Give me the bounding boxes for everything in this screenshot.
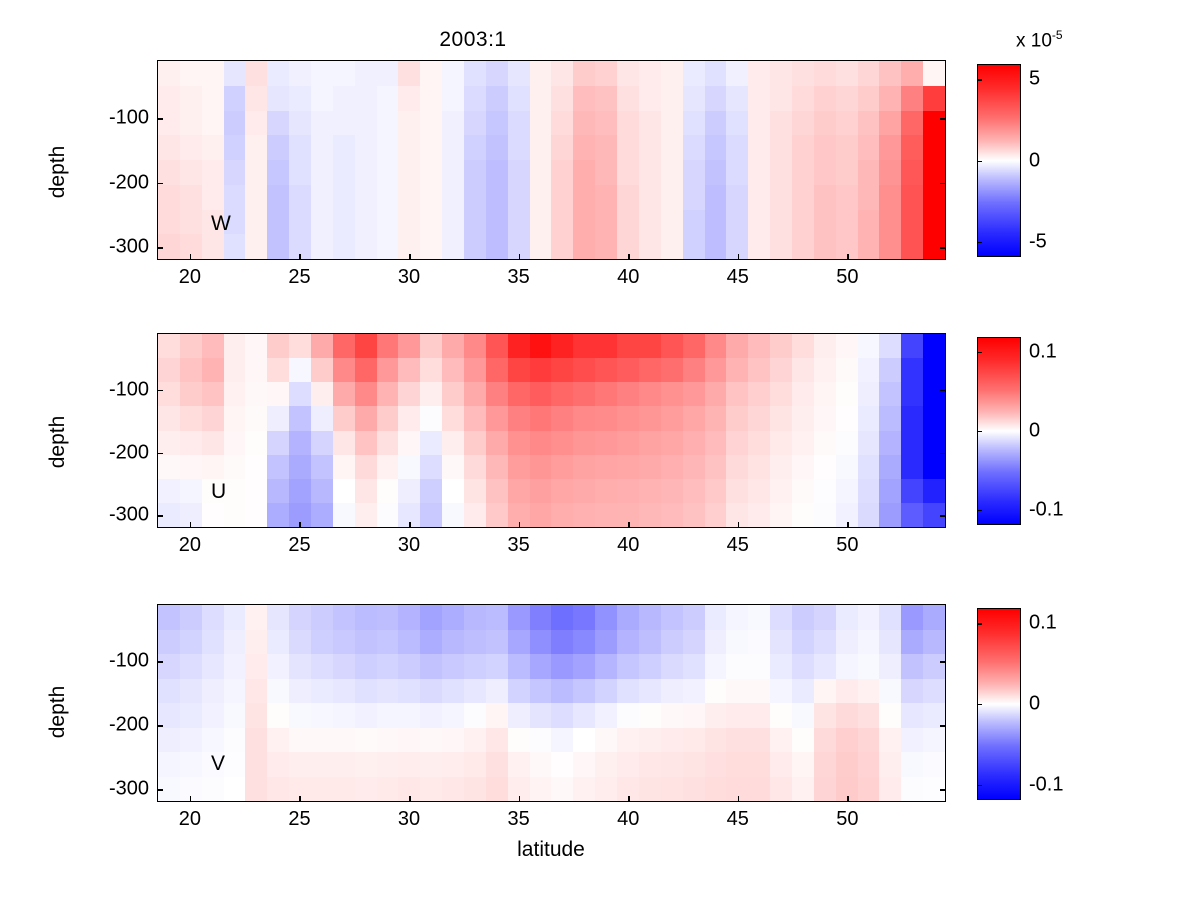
heatmap-cell: [486, 703, 508, 728]
heatmap-cell: [770, 703, 792, 728]
heatmap-cell: [814, 334, 836, 358]
colorbar-tick-mark: [977, 161, 982, 162]
heatmap-cell: [836, 111, 858, 136]
heatmap-cell: [224, 358, 246, 382]
heatmap-cell: [180, 334, 202, 358]
y-axis-title-u: depth: [46, 382, 70, 502]
heatmap-cell: [508, 358, 530, 382]
heatmap-cell: [901, 185, 923, 210]
heatmap-cell: [355, 728, 377, 753]
heatmap-cell: [267, 160, 289, 185]
heatmap-cell: [770, 111, 792, 136]
heatmap-cell: [486, 382, 508, 406]
y-tick-label: -200: [65, 714, 149, 737]
heatmap-cell: [377, 406, 399, 430]
heatmap-cell: [464, 455, 486, 479]
heatmap-cell: [923, 406, 945, 430]
heatmap-cell: [770, 503, 792, 527]
heatmap-cell: [464, 654, 486, 679]
heatmap-cell: [377, 382, 399, 406]
heatmap-grid-w: [158, 61, 945, 259]
heatmap-cell: [464, 61, 486, 86]
heatmap-cell: [420, 679, 442, 704]
heatmap-cell: [792, 455, 814, 479]
heatmap-cell: [726, 86, 748, 111]
heatmap-cell: [551, 185, 573, 210]
heatmap-cell: [858, 654, 880, 679]
heatmap-cell: [726, 703, 748, 728]
heatmap-cell: [158, 382, 180, 406]
heatmap-cell: [530, 185, 552, 210]
heatmap-cell: [311, 358, 333, 382]
heatmap-cell: [355, 605, 377, 630]
heatmap-cell: [289, 160, 311, 185]
heatmap-cell: [333, 406, 355, 430]
heatmap-cell: [355, 406, 377, 430]
heatmap-cell: [464, 406, 486, 430]
heatmap-cell: [770, 234, 792, 259]
heatmap-cell: [333, 185, 355, 210]
x-tick-mark: [847, 796, 849, 802]
heatmap-cell: [792, 703, 814, 728]
heatmap-cell: [551, 728, 573, 753]
heatmap-cell: [398, 479, 420, 503]
colorbar-tick-label: 0: [1029, 420, 1040, 443]
heatmap-cell: [573, 382, 595, 406]
heatmap-cell: [858, 334, 880, 358]
y-tick-mark-right: [940, 390, 946, 392]
heatmap-cell: [836, 431, 858, 455]
heatmap-cell: [661, 752, 683, 777]
x-tick-label: 30: [398, 534, 420, 557]
heatmap-cell: [792, 752, 814, 777]
heatmap-cell: [639, 728, 661, 753]
heatmap-cell: [158, 630, 180, 655]
heatmap-cell: [377, 334, 399, 358]
heatmap-cell: [770, 479, 792, 503]
figure-canvas: 2003:1 W 20253035404550-100-200-300 dept…: [0, 0, 1200, 900]
x-tick-mark: [519, 522, 521, 528]
heatmap-cell: [486, 777, 508, 802]
heatmap-cell: [508, 86, 530, 111]
heatmap-cell: [377, 630, 399, 655]
heatmap-cell: [289, 334, 311, 358]
heatmap-cell: [639, 86, 661, 111]
heatmap-cell: [420, 728, 442, 753]
heatmap-cell: [748, 334, 770, 358]
heatmap-cell: [814, 382, 836, 406]
heatmap-cell: [530, 654, 552, 679]
heatmap-cell: [486, 479, 508, 503]
heatmap-cell: [858, 111, 880, 136]
heatmap-cell: [923, 334, 945, 358]
heatmap-cell: [311, 334, 333, 358]
heatmap-cell: [683, 431, 705, 455]
heatmap-cell: [726, 654, 748, 679]
colorbar-v[interactable]: [977, 608, 1021, 800]
heatmap-cell: [420, 654, 442, 679]
heatmap-cell: [464, 777, 486, 802]
heatmap-cell: [836, 728, 858, 753]
heatmap-cell: [224, 777, 246, 802]
heatmap-cell: [442, 605, 464, 630]
heatmap-cell: [224, 605, 246, 630]
heatmap-cell: [333, 234, 355, 259]
heatmap-cell: [530, 455, 552, 479]
x-tick-label: 20: [179, 534, 201, 557]
heatmap-cell: [639, 777, 661, 802]
heatmap-cell: [508, 605, 530, 630]
heatmap-cell: [245, 61, 267, 86]
heatmap-cell: [595, 358, 617, 382]
heatmap-cell: [508, 431, 530, 455]
heatmap-cell: [464, 86, 486, 111]
heatmap-cell: [923, 210, 945, 235]
heatmap-cell: [705, 61, 727, 86]
heatmap-cell: [333, 61, 355, 86]
heatmap-cell: [289, 135, 311, 160]
heatmap-cell: [858, 234, 880, 259]
heatmap-cell: [333, 752, 355, 777]
heatmap-cell: [530, 160, 552, 185]
heatmap-cell: [377, 61, 399, 86]
heatmap-cell: [224, 61, 246, 86]
heatmap-cell: [245, 777, 267, 802]
heatmap-cell: [442, 61, 464, 86]
heatmap-cell: [486, 111, 508, 136]
heatmap-cell: [879, 503, 901, 527]
heatmap-cell: [639, 210, 661, 235]
heatmap-cell: [901, 210, 923, 235]
heatmap-cell: [289, 605, 311, 630]
colorbar-u[interactable]: [977, 337, 1021, 525]
x-tick-mark: [519, 796, 521, 802]
heatmap-cell: [530, 703, 552, 728]
heatmap-cell: [311, 777, 333, 802]
heatmap-cell: [333, 679, 355, 704]
heatmap-cell: [858, 406, 880, 430]
heatmap-cell: [311, 86, 333, 111]
x-tick-label: 45: [727, 266, 749, 289]
heatmap-w[interactable]: W: [157, 60, 946, 260]
heatmap-cell: [901, 777, 923, 802]
heatmap-cell: [377, 210, 399, 235]
heatmap-cell: [858, 605, 880, 630]
heatmap-cell: [901, 703, 923, 728]
heatmap-cell: [573, 111, 595, 136]
heatmap-u[interactable]: U: [157, 333, 946, 528]
heatmap-cell: [442, 185, 464, 210]
heatmap-cell: [901, 86, 923, 111]
heatmap-cell: [573, 703, 595, 728]
heatmap-cell: [289, 406, 311, 430]
heatmap-cell: [683, 752, 705, 777]
heatmap-cell: [639, 406, 661, 430]
heatmap-cell: [726, 431, 748, 455]
heatmap-cell: [792, 630, 814, 655]
heatmap-cell: [202, 160, 224, 185]
heatmap-cell: [355, 135, 377, 160]
heatmap-cell: [464, 382, 486, 406]
heatmap-cell: [573, 185, 595, 210]
heatmap-cell: [770, 185, 792, 210]
heatmap-cell: [398, 752, 420, 777]
heatmap-cell: [573, 234, 595, 259]
heatmap-cell: [180, 455, 202, 479]
heatmap-cell: [726, 630, 748, 655]
heatmap-cell: [748, 605, 770, 630]
heatmap-cell: [355, 86, 377, 111]
heatmap-cell: [879, 61, 901, 86]
heatmap-cell: [180, 86, 202, 111]
heatmap-cell: [355, 455, 377, 479]
heatmap-cell: [551, 479, 573, 503]
heatmap-cell: [901, 630, 923, 655]
heatmap-cell: [792, 135, 814, 160]
heatmap-cell: [398, 61, 420, 86]
heatmap-cell: [836, 135, 858, 160]
heatmap-cell: [420, 86, 442, 111]
heatmap-cell: [879, 479, 901, 503]
heatmap-cell: [705, 777, 727, 802]
y-tick-mark: [157, 247, 163, 249]
heatmap-cell: [202, 234, 224, 259]
heatmap-cell: [311, 479, 333, 503]
heatmap-cell: [858, 358, 880, 382]
heatmap-cell: [158, 752, 180, 777]
heatmap-cell: [508, 111, 530, 136]
heatmap-cell: [639, 703, 661, 728]
colorbar-tick-mark: [977, 431, 982, 432]
heatmap-cell: [814, 728, 836, 753]
heatmap-cell: [683, 703, 705, 728]
heatmap-cell: [289, 61, 311, 86]
heatmap-cell: [333, 479, 355, 503]
colorbar-tick-label: -0.1: [1029, 498, 1063, 521]
heatmap-cell: [836, 86, 858, 111]
heatmap-cell: [508, 135, 530, 160]
heatmap-cell: [420, 210, 442, 235]
heatmap-cell: [267, 479, 289, 503]
heatmap-cell: [551, 86, 573, 111]
heatmap-cell: [486, 503, 508, 527]
heatmap-cell: [442, 654, 464, 679]
x-tick-mark: [190, 796, 192, 802]
y-tick-mark-right: [940, 453, 946, 455]
x-tick-mark: [190, 254, 192, 260]
heatmap-cell: [683, 605, 705, 630]
heatmap-cell: [705, 752, 727, 777]
heatmap-cell: [245, 479, 267, 503]
heatmap-cell: [836, 210, 858, 235]
heatmap-cell: [792, 234, 814, 259]
heatmap-cell: [639, 679, 661, 704]
colorbar-tick-mark: [977, 623, 982, 624]
heatmap-grid-u: [158, 334, 945, 527]
heatmap-cell: [726, 728, 748, 753]
heatmap-cell: [858, 86, 880, 111]
heatmap-cell: [901, 503, 923, 527]
heatmap-cell: [180, 185, 202, 210]
heatmap-cell: [595, 61, 617, 86]
heatmap-cell: [530, 86, 552, 111]
heatmap-cell: [486, 605, 508, 630]
x-tick-label: 30: [398, 266, 420, 289]
heatmap-cell: [595, 503, 617, 527]
heatmap-cell: [792, 728, 814, 753]
heatmap-cell: [551, 605, 573, 630]
heatmap-cell: [858, 431, 880, 455]
y-axis-title-v: depth: [46, 652, 70, 772]
heatmap-cell: [770, 679, 792, 704]
heatmap-cell: [486, 406, 508, 430]
heatmap-cell: [311, 752, 333, 777]
y-tick-mark: [157, 515, 163, 517]
heatmap-cell: [464, 185, 486, 210]
heatmap-cell: [901, 358, 923, 382]
heatmap-cell: [705, 185, 727, 210]
y-tick-label: -100: [65, 107, 149, 130]
heatmap-cell: [289, 752, 311, 777]
heatmap-cell: [508, 185, 530, 210]
heatmap-cell: [551, 752, 573, 777]
heatmap-cell: [617, 752, 639, 777]
heatmap-cell: [508, 61, 530, 86]
heatmap-cell: [420, 334, 442, 358]
colorbar-tick-label: 0.1: [1029, 341, 1057, 364]
heatmap-cell: [224, 752, 246, 777]
heatmap-cell: [158, 210, 180, 235]
heatmap-cell: [486, 654, 508, 679]
heatmap-cell: [858, 503, 880, 527]
heatmap-cell: [879, 406, 901, 430]
heatmap-cell: [617, 630, 639, 655]
heatmap-cell: [836, 605, 858, 630]
y-tick-mark-right: [940, 661, 946, 663]
heatmap-cell: [202, 61, 224, 86]
heatmap-cell: [180, 479, 202, 503]
heatmap-cell: [814, 111, 836, 136]
heatmap-cell: [377, 185, 399, 210]
heatmap-v[interactable]: V: [157, 604, 946, 802]
heatmap-cell: [530, 406, 552, 430]
heatmap-cell: [705, 431, 727, 455]
colorbar-tick-mark: [977, 704, 982, 705]
heatmap-cell: [683, 358, 705, 382]
heatmap-cell: [267, 777, 289, 802]
heatmap-cell: [879, 752, 901, 777]
heatmap-cell: [508, 654, 530, 679]
y-tick-mark-right: [940, 725, 946, 727]
x-tick-label: 20: [179, 266, 201, 289]
heatmap-cell: [573, 160, 595, 185]
heatmap-cell: [573, 406, 595, 430]
heatmap-cell: [508, 210, 530, 235]
heatmap-cell: [464, 358, 486, 382]
heatmap-cell: [355, 185, 377, 210]
x-tick-label: 35: [508, 808, 530, 831]
heatmap-cell: [464, 679, 486, 704]
x-tick-label: 40: [617, 808, 639, 831]
heatmap-cell: [726, 185, 748, 210]
heatmap-cell: [573, 358, 595, 382]
heatmap-cell: [377, 605, 399, 630]
heatmap-cell: [442, 777, 464, 802]
y-tick-mark: [157, 183, 163, 185]
heatmap-cell: [858, 382, 880, 406]
heatmap-cell: [508, 334, 530, 358]
heatmap-cell: [420, 234, 442, 259]
heatmap-cell: [398, 185, 420, 210]
colorbar-w[interactable]: [977, 64, 1021, 257]
heatmap-cell: [705, 358, 727, 382]
heatmap-cell: [486, 630, 508, 655]
colorbar-multiplier-w: x 10-5: [1016, 28, 1063, 52]
heatmap-cell: [486, 455, 508, 479]
heatmap-cell: [267, 679, 289, 704]
heatmap-cell: [267, 358, 289, 382]
heatmap-cell: [858, 777, 880, 802]
heatmap-cell: [595, 382, 617, 406]
heatmap-cell: [442, 630, 464, 655]
heatmap-cell: [748, 160, 770, 185]
heatmap-cell: [879, 455, 901, 479]
heatmap-cell: [224, 160, 246, 185]
heatmap-cell: [617, 334, 639, 358]
heatmap-cell: [245, 86, 267, 111]
heatmap-cell: [333, 728, 355, 753]
heatmap-cell: [180, 728, 202, 753]
heatmap-cell: [158, 334, 180, 358]
heatmap-cell: [573, 630, 595, 655]
heatmap-cell: [705, 382, 727, 406]
heatmap-cell: [333, 431, 355, 455]
heatmap-cell: [858, 752, 880, 777]
heatmap-cell: [267, 728, 289, 753]
heatmap-cell: [814, 160, 836, 185]
heatmap-cell: [858, 679, 880, 704]
heatmap-cell: [858, 210, 880, 235]
heatmap-cell: [420, 358, 442, 382]
heatmap-cell: [355, 654, 377, 679]
heatmap-cell: [377, 777, 399, 802]
heatmap-cell: [420, 61, 442, 86]
heatmap-cell: [879, 111, 901, 136]
heatmap-cell: [420, 503, 442, 527]
heatmap-cell: [923, 431, 945, 455]
heatmap-cell: [442, 334, 464, 358]
heatmap-cell: [879, 703, 901, 728]
heatmap-cell: [355, 210, 377, 235]
heatmap-cell: [617, 160, 639, 185]
colorbar-tick-mark: [977, 785, 982, 786]
x-tick-label: 50: [836, 808, 858, 831]
heatmap-cell: [464, 234, 486, 259]
heatmap-cell: [311, 234, 333, 259]
heatmap-cell: [923, 752, 945, 777]
heatmap-cell: [311, 210, 333, 235]
heatmap-cell: [289, 86, 311, 111]
heatmap-cell: [770, 455, 792, 479]
heatmap-cell: [486, 210, 508, 235]
y-tick-label: -300: [65, 236, 149, 259]
heatmap-cell: [180, 160, 202, 185]
x-tick-mark: [190, 522, 192, 528]
heatmap-cell: [551, 503, 573, 527]
heatmap-cell: [748, 777, 770, 802]
heatmap-cell: [858, 630, 880, 655]
x-tick-label: 30: [398, 808, 420, 831]
